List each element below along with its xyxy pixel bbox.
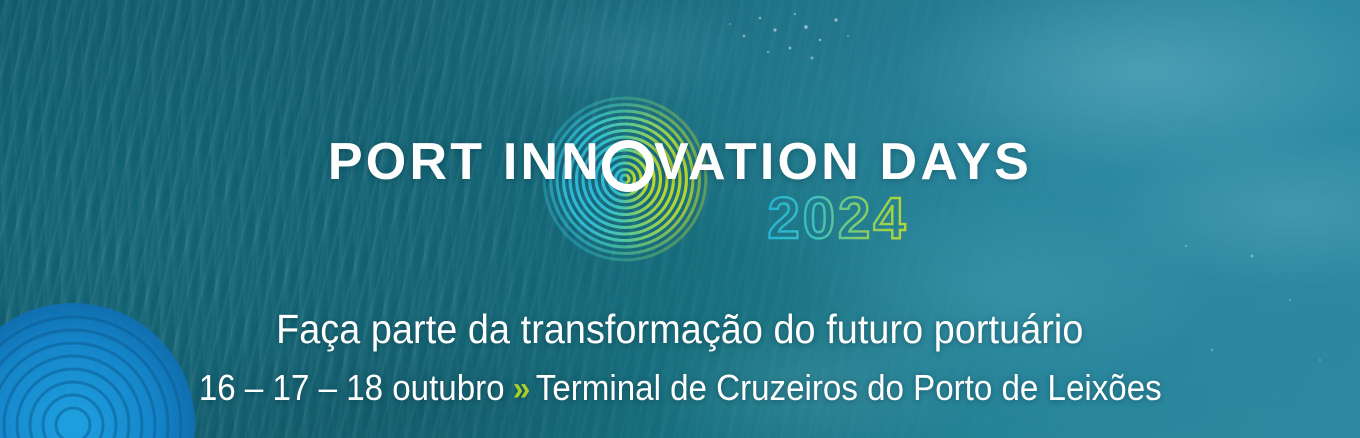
double-chevron-icon: » bbox=[513, 372, 528, 408]
ring-o-icon bbox=[602, 140, 654, 192]
event-year: 2024 bbox=[743, 186, 933, 252]
event-details-line: 16 – 17 – 18 outubro » Terminal de Cruze… bbox=[199, 369, 1162, 408]
banner-content: PORT INNVATION DAYS 2024 Faça parte da t… bbox=[0, 0, 1360, 438]
event-title-part2: VATION DAYS bbox=[654, 133, 1032, 191]
event-year-text: 2024 bbox=[767, 186, 908, 251]
event-dates: 16 – 17 – 18 outubro bbox=[199, 369, 505, 407]
port-innovation-days-banner: PORT INNVATION DAYS 2024 Faça parte da t… bbox=[0, 0, 1360, 438]
title-block: PORT INNVATION DAYS 2024 bbox=[0, 96, 1360, 256]
event-venue: Terminal de Cruzeiros do Porto de Leixõe… bbox=[535, 369, 1161, 407]
event-subtitle: Faça parte da transformação do futuro po… bbox=[276, 308, 1083, 351]
event-title: PORT INNVATION DAYS bbox=[0, 136, 1360, 188]
event-title-part1: PORT INN bbox=[328, 133, 602, 191]
